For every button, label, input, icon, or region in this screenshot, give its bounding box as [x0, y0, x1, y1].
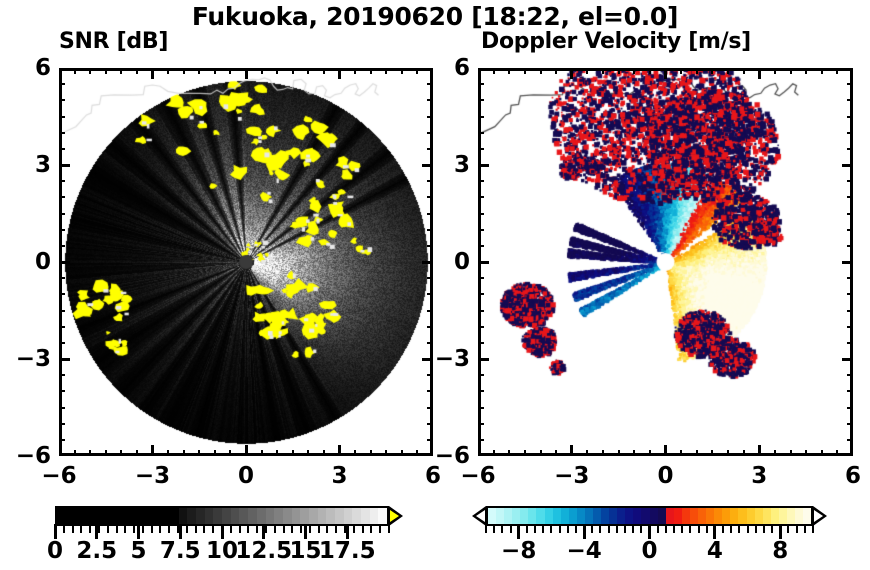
snr-colorbar-minor-tick — [124, 524, 126, 533]
doppler-colorbar-ticklabel: 4 — [707, 538, 723, 564]
xtick-top-doppler — [602, 68, 604, 74]
doppler-colorbar-minor-tick — [665, 524, 667, 533]
panel-title-snr: SNR [dB] — [59, 29, 168, 54]
ytick-doppler — [478, 229, 484, 231]
yticklabel-snr-1: 3 — [11, 152, 51, 178]
ytick-right-snr — [427, 229, 433, 231]
doppler-colorbar-swatch — [747, 508, 755, 524]
ytick-right-doppler — [842, 261, 853, 264]
xtick-doppler — [508, 450, 510, 456]
ytick-snr — [59, 293, 65, 295]
ytick-doppler — [478, 310, 484, 312]
xtick-doppler — [524, 450, 526, 456]
xtick-doppler — [774, 450, 776, 456]
xtick-top-doppler — [758, 68, 761, 79]
snr-colorbar-minor-tick — [256, 524, 258, 533]
xtick-top-doppler — [696, 68, 698, 74]
ytick-doppler — [478, 407, 484, 409]
doppler-colorbar-swatch — [593, 508, 601, 524]
xtick-top-snr — [323, 68, 325, 74]
xtick-top-snr — [105, 68, 107, 74]
ytick-snr — [59, 407, 65, 409]
snr-colorbar-minor-tick — [370, 524, 372, 533]
doppler-colorbar-swatch — [722, 508, 730, 524]
ytick-doppler — [478, 390, 484, 392]
snr-colorbar-swatch — [213, 508, 222, 524]
ytick-snr — [59, 116, 65, 118]
yticklabel-snr-0: 6 — [11, 55, 51, 81]
xtick-snr — [183, 450, 185, 456]
snr-colorbar-major-tick — [262, 524, 265, 539]
ytick-right-doppler — [847, 83, 853, 85]
ytick-right-snr — [427, 293, 433, 295]
xticklabel-doppler-4: 6 — [845, 463, 861, 489]
xtick-doppler — [570, 445, 573, 456]
ytick-doppler — [478, 164, 489, 167]
xticklabel-doppler-3: 3 — [751, 463, 767, 489]
doppler-colorbar-swatch — [512, 508, 520, 524]
xtick-top-doppler — [540, 68, 542, 74]
snr-colorbar-swatch — [370, 508, 379, 524]
xtick-top-doppler — [836, 68, 838, 74]
doppler-colorbar-minor-tick — [493, 524, 495, 533]
snr-colorbar-swatch — [222, 508, 231, 524]
doppler-colorbar-minor-tick — [534, 524, 536, 533]
ytick-right-doppler — [847, 229, 853, 231]
xtick-top-snr — [385, 68, 387, 74]
snr-colorbar-minor-tick — [353, 524, 355, 533]
xtick-top-doppler — [790, 68, 792, 74]
ytick-snr — [59, 342, 65, 344]
snr-colorbar-major-tick — [54, 524, 57, 539]
snr-colorbar-swatch — [248, 508, 257, 524]
yticklabel-doppler-2: 0 — [430, 249, 470, 275]
xtick-top-doppler — [633, 68, 635, 74]
xtick-top-doppler — [508, 68, 510, 74]
doppler-colorbar-ticklabel: −4 — [566, 538, 601, 564]
snr-colorbar-ticklabel: 7.5 — [160, 538, 201, 564]
snr-colorbar-swatch — [92, 508, 101, 524]
xtick-top-doppler — [727, 68, 729, 74]
ytick-right-doppler — [847, 390, 853, 392]
doppler-colorbar-swatch — [658, 508, 666, 524]
ytick-right-snr — [427, 342, 433, 344]
doppler-colorbar-swatch — [528, 508, 536, 524]
xtick-top-doppler — [774, 68, 776, 74]
ytick-right-doppler — [847, 245, 853, 247]
doppler-colorbar-minor-tick — [501, 524, 503, 533]
plot-area-snr[interactable] — [59, 68, 433, 456]
doppler-colorbar-minor-tick — [763, 524, 765, 533]
ytick-doppler — [478, 196, 484, 198]
snr-colorbar-minor-tick — [133, 524, 135, 533]
xtick-top-snr — [338, 68, 341, 79]
ytick-right-doppler — [847, 407, 853, 409]
snr-colorbar-swatch — [161, 508, 170, 524]
xtick-top-doppler — [743, 68, 745, 74]
xtick-snr — [261, 450, 263, 456]
snr-colorbar-minor-tick — [291, 524, 293, 533]
doppler-colorbar-swatch — [569, 508, 577, 524]
doppler-colorbar-swatch — [601, 508, 609, 524]
snr-colorbar-swatch — [257, 508, 266, 524]
ytick-doppler — [478, 245, 484, 247]
ytick-doppler — [478, 213, 484, 215]
xtick-top-snr — [229, 68, 231, 74]
doppler-colorbar-swatch — [625, 508, 633, 524]
xtick-snr — [292, 450, 294, 456]
doppler-colorbar-major-tick — [713, 524, 716, 539]
xtick-top-doppler — [805, 68, 807, 74]
snr-colorbar-swatch — [300, 508, 309, 524]
snr-colorbar-minor-tick — [151, 524, 153, 533]
snr-colorbar-swatch — [292, 508, 301, 524]
ytick-right-doppler — [847, 180, 853, 182]
xtick-snr — [416, 450, 418, 456]
xticklabel-doppler-2: 0 — [657, 463, 673, 489]
doppler-colorbar-minor-tick — [706, 524, 708, 533]
snr-colorbar-minor-tick — [318, 524, 320, 533]
xtick-top-snr — [198, 68, 200, 74]
snr-colorbar-swatch — [109, 508, 118, 524]
xtick-doppler — [711, 450, 713, 456]
ytick-right-snr — [427, 213, 433, 215]
xtick-top-snr — [307, 68, 309, 74]
yticklabel-doppler-0: 6 — [430, 55, 470, 81]
snr-colorbar-minor-tick — [300, 524, 302, 533]
ytick-right-snr — [427, 132, 433, 134]
xtick-top-doppler — [618, 68, 620, 74]
yticklabel-snr-2: 0 — [11, 249, 51, 275]
doppler-colorbar-swatch — [779, 508, 787, 524]
xtick-snr — [354, 450, 356, 456]
snr-colorbar-swatch — [179, 508, 188, 524]
doppler-colorbar-swatch — [633, 508, 641, 524]
ytick-right-doppler — [847, 293, 853, 295]
xtick-doppler — [727, 450, 729, 456]
xtick-doppler — [664, 445, 667, 456]
ytick-snr — [59, 83, 65, 85]
doppler-colorbar-swatch — [617, 508, 625, 524]
doppler-colorbar-minor-tick — [681, 524, 683, 533]
xtick-snr — [307, 450, 309, 456]
ytick-snr — [59, 213, 65, 215]
doppler-colorbar-swatch — [520, 508, 528, 524]
snr-colorbar-swatch — [196, 508, 205, 524]
snr-colorbar-swatch — [127, 508, 136, 524]
ytick-right-snr — [427, 180, 433, 182]
ytick-snr — [59, 148, 65, 150]
doppler-colorbar-major-tick — [517, 524, 520, 539]
xtick-snr — [167, 450, 169, 456]
doppler-colorbar-minor-tick — [510, 524, 512, 533]
ytick-right-snr — [427, 277, 433, 279]
ytick-snr — [59, 132, 65, 134]
doppler-colorbar-minor-tick — [771, 524, 773, 533]
xtick-top-snr — [276, 68, 278, 74]
xtick-top-snr — [214, 68, 216, 74]
snr-colorbar-minor-tick — [116, 524, 118, 533]
xtick-doppler — [836, 450, 838, 456]
xtick-snr — [323, 450, 325, 456]
doppler-colorbar-swatch — [496, 508, 504, 524]
xtick-snr — [120, 450, 122, 456]
xtick-top-snr — [151, 68, 154, 79]
xtick-snr — [338, 445, 341, 456]
xtick-doppler — [555, 450, 557, 456]
ytick-snr — [59, 374, 65, 376]
snr-colorbar-swatch — [231, 508, 240, 524]
doppler-colorbar-minor-tick — [608, 524, 610, 533]
xticklabel-doppler-1: −3 — [554, 463, 589, 489]
ytick-right-snr — [427, 374, 433, 376]
ytick-right-snr — [427, 407, 433, 409]
ytick-right-doppler — [847, 326, 853, 328]
doppler-colorbar-minor-tick — [689, 524, 691, 533]
doppler-colorbar-ticklabel: −8 — [501, 538, 536, 564]
snr-colorbar-swatch — [266, 508, 275, 524]
snr-colorbar-swatch — [283, 508, 292, 524]
ytick-right-doppler — [847, 277, 853, 279]
doppler-colorbar-over-color — [814, 510, 823, 522]
snr-colorbar-ticklabel: 15 — [289, 538, 321, 564]
doppler-colorbar-swatch — [553, 508, 561, 524]
doppler-colorbar[interactable] — [472, 506, 827, 526]
snr-colorbar-minor-tick — [203, 524, 205, 533]
snr-colorbar-minor-tick — [230, 524, 232, 533]
xtick-top-snr — [167, 68, 169, 74]
snr-colorbar-ticklabel: 17.5 — [319, 538, 376, 564]
doppler-colorbar-major-tick — [779, 524, 782, 539]
snr-colorbar-minor-tick — [107, 524, 109, 533]
xtick-doppler — [649, 450, 651, 456]
xtick-top-snr — [354, 68, 356, 74]
ytick-right-doppler — [847, 310, 853, 312]
xtick-doppler — [586, 450, 588, 456]
xtick-doppler — [618, 450, 620, 456]
xtick-top-snr — [136, 68, 138, 74]
doppler-colorbar-minor-tick — [673, 524, 675, 533]
doppler-colorbar-swatch — [674, 508, 682, 524]
ytick-doppler — [478, 358, 489, 361]
snr-colorbar-swatch — [335, 508, 344, 524]
xtick-top-snr — [245, 68, 248, 79]
ytick-snr — [59, 261, 70, 264]
snr-colorbar-major-tick — [346, 524, 349, 539]
xtick-doppler — [602, 450, 604, 456]
figure-suptitle: Fukuoka, 20190620 [18:22, el=0.0] — [0, 2, 870, 31]
yticklabel-doppler-1: 3 — [430, 152, 470, 178]
doppler-colorbar-minor-tick — [526, 524, 528, 533]
doppler-colorbar-minor-tick — [559, 524, 561, 533]
ytick-right-snr — [427, 423, 433, 425]
xtick-top-snr — [74, 68, 76, 74]
ytick-snr — [59, 196, 65, 198]
snr-colorbar-swatch — [344, 508, 353, 524]
ytick-right-snr — [427, 310, 433, 312]
ytick-doppler — [478, 277, 484, 279]
ytick-right-doppler — [847, 196, 853, 198]
xticklabel-snr-2: 0 — [238, 463, 254, 489]
doppler-colorbar-swatch — [504, 508, 512, 524]
snr-colorbar-minor-tick — [195, 524, 197, 533]
ytick-right-snr — [427, 116, 433, 118]
doppler-colorbar-minor-tick — [747, 524, 749, 533]
snr-colorbar-swatch — [57, 508, 66, 524]
snr-colorbar-over-color — [390, 510, 399, 522]
ytick-right-snr — [427, 99, 433, 101]
doppler-colorbar-minor-tick — [542, 524, 544, 533]
doppler-colorbar-swatch — [690, 508, 698, 524]
doppler-colorbar-swatch — [641, 508, 649, 524]
doppler-colorbar-swatch — [561, 508, 569, 524]
ytick-right-doppler — [847, 213, 853, 215]
doppler-colorbar-swatch — [666, 508, 674, 524]
ytick-doppler — [478, 180, 484, 182]
doppler-colorbar-minor-tick — [804, 524, 806, 533]
doppler-colorbar-minor-tick — [657, 524, 659, 533]
xtick-snr — [214, 450, 216, 456]
snr-colorbar-major-tick — [137, 524, 140, 539]
snr-colorbar-swatch — [274, 508, 283, 524]
ytick-doppler — [478, 261, 489, 264]
xtick-top-doppler — [555, 68, 557, 74]
doppler-colorbar-minor-tick — [722, 524, 724, 533]
snr-radar-image — [62, 71, 430, 453]
yticklabel-snr-3: −3 — [11, 346, 51, 372]
ytick-right-doppler — [847, 439, 853, 441]
snr-colorbar-swatch — [118, 508, 127, 524]
doppler-colorbar-swatch — [714, 508, 722, 524]
snr-colorbar-minor-tick — [326, 524, 328, 533]
xticklabel-snr-3: 3 — [331, 463, 347, 489]
snr-colorbar-minor-tick — [63, 524, 65, 533]
xtick-top-snr — [89, 68, 91, 74]
snr-colorbar-minor-tick — [274, 524, 276, 533]
doppler-colorbar-swatch — [585, 508, 593, 524]
doppler-colorbar-swatch — [755, 508, 763, 524]
doppler-colorbar-minor-tick — [599, 524, 601, 533]
ytick-snr — [59, 439, 65, 441]
doppler-colorbar-swatch — [682, 508, 690, 524]
doppler-colorbar-minor-tick — [787, 524, 789, 533]
xtick-snr — [245, 445, 248, 456]
xtick-snr — [385, 450, 387, 456]
doppler-colorbar-major-tick — [648, 524, 651, 539]
snr-colorbar[interactable] — [55, 506, 403, 526]
doppler-colorbar-minor-tick — [567, 524, 569, 533]
xtick-doppler — [743, 450, 745, 456]
doppler-colorbar-ticklabel: 8 — [772, 538, 788, 564]
doppler-colorbar-minor-tick — [632, 524, 634, 533]
doppler-colorbar-swatch — [488, 508, 496, 524]
snr-colorbar-swatch — [378, 508, 387, 524]
snr-colorbar-minor-tick — [186, 524, 188, 533]
ytick-snr — [59, 245, 65, 247]
yticklabel-doppler-3: −3 — [430, 346, 470, 372]
snr-colorbar-minor-tick — [247, 524, 249, 533]
xtick-top-snr — [261, 68, 263, 74]
xtick-top-doppler — [570, 68, 573, 79]
snr-colorbar-swatch — [318, 508, 327, 524]
snr-colorbar-minor-tick — [89, 524, 91, 533]
ytick-doppler — [478, 423, 484, 425]
xtick-top-snr — [183, 68, 185, 74]
doppler-colorbar-minor-tick — [485, 524, 487, 533]
snr-colorbar-swatch — [83, 508, 92, 524]
ytick-snr — [59, 326, 65, 328]
xtick-doppler — [633, 450, 635, 456]
xtick-top-doppler — [680, 68, 682, 74]
snr-colorbar-swatch — [100, 508, 109, 524]
snr-colorbar-major-tick — [221, 524, 224, 539]
snr-colorbar-major-tick — [95, 524, 98, 539]
ytick-doppler — [478, 439, 484, 441]
doppler-colorbar-swatch — [803, 508, 811, 524]
doppler-colorbar-minor-tick — [591, 524, 593, 533]
doppler-colorbar-minor-tick — [624, 524, 626, 533]
doppler-colorbar-ticklabel: 0 — [641, 538, 657, 564]
ytick-snr — [59, 277, 65, 279]
snr-colorbar-swatch — [239, 508, 248, 524]
xtick-snr — [136, 450, 138, 456]
ytick-right-doppler — [847, 423, 853, 425]
ytick-doppler — [478, 148, 484, 150]
ytick-right-snr — [427, 326, 433, 328]
xtick-snr — [198, 450, 200, 456]
doppler-colorbar-under-color — [476, 510, 485, 522]
snr-colorbar-swatch — [135, 508, 144, 524]
snr-colorbar-gradient — [55, 506, 389, 526]
yticklabel-snr-4: −6 — [11, 443, 51, 469]
ytick-snr — [59, 390, 65, 392]
doppler-colorbar-swatch — [698, 508, 706, 524]
doppler-colorbar-swatch — [577, 508, 585, 524]
doppler-colorbar-swatch — [730, 508, 738, 524]
snr-colorbar-minor-tick — [335, 524, 337, 533]
ytick-right-snr — [427, 196, 433, 198]
snr-colorbar-swatch — [205, 508, 214, 524]
snr-colorbar-swatch — [153, 508, 162, 524]
doppler-colorbar-minor-tick — [755, 524, 757, 533]
xtick-top-doppler — [711, 68, 713, 74]
xtick-snr — [89, 450, 91, 456]
xtick-snr — [276, 450, 278, 456]
doppler-colorbar-minor-tick — [812, 524, 814, 533]
snr-colorbar-swatch — [74, 508, 83, 524]
ytick-snr — [59, 99, 65, 101]
plot-area-doppler[interactable] — [478, 68, 853, 456]
radar-figure: Fukuoka, 20190620 [18:22, el=0.0] SNR [d… — [0, 0, 870, 570]
doppler-radar-image — [481, 71, 850, 453]
xtick-doppler — [790, 450, 792, 456]
snr-colorbar-ticklabel: 5 — [130, 538, 146, 564]
doppler-colorbar-swatch — [536, 508, 544, 524]
xtick-top-snr — [370, 68, 372, 74]
xtick-doppler — [696, 450, 698, 456]
xtick-top-doppler — [524, 68, 526, 74]
doppler-colorbar-swatch — [650, 508, 658, 524]
xtick-doppler — [540, 450, 542, 456]
snr-colorbar-ticklabel: 2.5 — [76, 538, 117, 564]
doppler-colorbar-major-tick — [583, 524, 586, 539]
doppler-colorbar-minor-tick — [796, 524, 798, 533]
doppler-colorbar-minor-tick — [738, 524, 740, 533]
xtick-top-doppler — [664, 68, 667, 79]
panel-title-doppler: Doppler Velocity [m/s] — [481, 29, 751, 54]
snr-colorbar-swatch — [170, 508, 179, 524]
snr-colorbar-minor-tick — [142, 524, 144, 533]
